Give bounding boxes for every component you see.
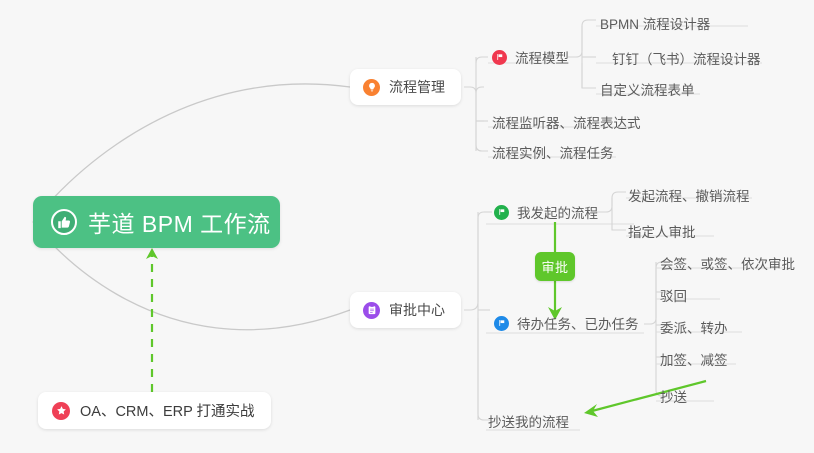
sub-node-process-model[interactable]: 流程模型 [492,46,569,68]
leaf-node-process-listener[interactable]: 流程监听器、流程表达式 [492,111,641,133]
leaf-node-bpmn-designer[interactable]: BPMN 流程设计器 [600,12,710,34]
callout-node-integration[interactable]: OA、CRM、ERP 打通实战 [38,392,271,429]
sub-node-todo-done-tasks[interactable]: 待办任务、已办任务 [494,312,639,334]
callout-arrow [146,248,158,392]
root-node[interactable]: 芋道 BPM 工作流 [33,196,280,248]
leaf-node-delegate-transfer[interactable]: 委派、转办 [660,316,728,338]
leaf-node-add-remove-sign[interactable]: 加签、减签 [660,348,728,370]
flag-icon [494,205,509,220]
branch-node-approval-center[interactable]: 审批中心 [350,292,461,328]
branch-label: 审批中心 [389,300,445,320]
leaf-node-start-cancel-process[interactable]: 发起流程、撤销流程 [628,184,750,206]
approval-badge: 审批 [535,252,575,281]
carbon-copy-arrow [584,381,706,417]
leaf-node-process-instance[interactable]: 流程实例、流程任务 [492,141,614,163]
flag-icon [492,50,507,65]
lightbulb-icon [363,79,380,96]
approval-badge-label: 审批 [541,257,568,276]
callout-label: OA、CRM、ERP 打通实战 [80,400,255,421]
root-label: 芋道 BPM 工作流 [88,205,271,239]
branch-node-process-management[interactable]: 流程管理 [350,69,461,105]
thumbs-up-icon [51,209,77,235]
leaf-node-countersign[interactable]: 会签、或签、依次审批 [660,252,795,274]
star-icon [52,402,70,420]
sub-node-label: 待办任务、已办任务 [517,313,639,333]
branch-label: 流程管理 [389,77,445,97]
mindmap-canvas: 芋道 BPM 工作流 流程管理 审批中心 [0,0,814,453]
leaf-node-dingtalk-designer[interactable]: 钉钉（飞书）流程设计器 [612,47,761,69]
sub-node-my-initiated[interactable]: 我发起的流程 [494,201,598,223]
clipboard-icon [363,302,380,319]
flag-icon [494,316,509,331]
sub-node-label: 我发起的流程 [517,202,598,222]
sub-node-label: 流程模型 [515,47,569,67]
leaf-node-cc-to-me[interactable]: 抄送我的流程 [488,410,569,432]
leaf-node-custom-form[interactable]: 自定义流程表单 [600,78,695,100]
leaf-node-assignee-approval[interactable]: 指定人审批 [628,220,696,242]
leaf-node-carbon-copy[interactable]: 抄送 [660,385,687,407]
leaf-node-reject[interactable]: 驳回 [660,284,687,306]
